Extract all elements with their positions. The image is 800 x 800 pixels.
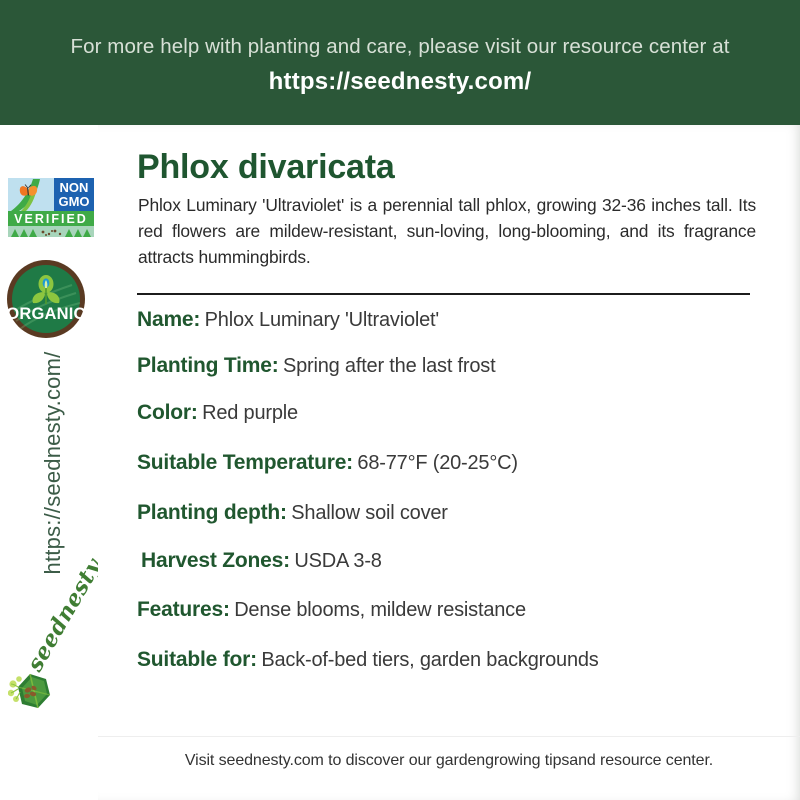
header-banner: For more help with planting and care, pl… bbox=[0, 0, 800, 125]
brand-wordmark: seednesty bbox=[22, 576, 98, 678]
svg-text:ORGANIC: ORGANIC bbox=[6, 305, 85, 323]
product-info-card: Phlox divaricata Phlox Luminary 'Ultravi… bbox=[98, 125, 800, 800]
detail-label: Harvest Zones: bbox=[141, 549, 290, 572]
detail-label: Features: bbox=[137, 598, 230, 621]
detail-value: Dense blooms, mildew resistance bbox=[234, 599, 526, 621]
detail-label: Suitable Temperature: bbox=[137, 451, 353, 474]
detail-value: 68-77°F (20-25°C) bbox=[357, 452, 517, 474]
detail-row-suitable-temperature: Suitable Temperature: 68-77°F (20-25°C) bbox=[137, 451, 518, 475]
detail-value: Shallow soil cover bbox=[291, 502, 447, 524]
detail-row-planting-time: Planting Time: Spring after the last fro… bbox=[137, 354, 495, 378]
detail-row-harvest-zones: Harvest Zones: USDA 3-8 bbox=[141, 549, 382, 573]
seed-pod-icon bbox=[8, 671, 56, 713]
detail-value: Spring after the last frost bbox=[283, 355, 495, 377]
section-divider bbox=[137, 293, 750, 295]
detail-value: Red purple bbox=[202, 402, 298, 424]
product-description: Phlox Luminary 'Ultraviolet' is a perenn… bbox=[138, 192, 756, 270]
detail-value: Back-of-bed tiers, garden backgrounds bbox=[261, 649, 598, 671]
detail-row-color: Color: Red purple bbox=[137, 401, 298, 425]
footer-divider bbox=[98, 736, 800, 737]
detail-row-features: Features: Dense blooms, mildew resistanc… bbox=[137, 598, 526, 622]
detail-label: Suitable for: bbox=[137, 648, 257, 671]
svg-text:VERIFIED: VERIFIED bbox=[14, 212, 88, 226]
detail-row-planting-depth: Planting depth: Shallow soil cover bbox=[137, 501, 448, 525]
organic-seal-icon: ORGANIC bbox=[6, 259, 86, 339]
detail-label: Planting Time: bbox=[137, 354, 279, 377]
svg-text:GMO: GMO bbox=[58, 194, 89, 209]
card-content: Phlox divaricata Phlox Luminary 'Ultravi… bbox=[137, 125, 800, 800]
detail-value: USDA 3-8 bbox=[294, 550, 381, 572]
sidebar-vertical-url[interactable]: https://seednesty.com/ bbox=[31, 343, 75, 583]
non-gmo-verified-icon: NON GMO VERIFIED bbox=[7, 176, 95, 239]
footer-note: Visit seednesty.com to discover our gard… bbox=[98, 752, 800, 770]
detail-row-suitable-for: Suitable for: Back-of-bed tiers, garden … bbox=[137, 648, 599, 672]
svg-text:NON: NON bbox=[60, 180, 89, 195]
brand-logo: seednesty bbox=[4, 645, 96, 755]
header-website-url[interactable]: https://seednesty.com/ bbox=[269, 64, 532, 100]
detail-label: Planting depth: bbox=[137, 501, 287, 524]
left-sidebar: NON GMO VERIFIED bbox=[0, 125, 98, 800]
page-title: Phlox divaricata bbox=[137, 147, 395, 187]
detail-value: Phlox Luminary 'Ultraviolet' bbox=[205, 309, 439, 331]
detail-row-name: Name: Phlox Luminary 'Ultraviolet' bbox=[137, 308, 439, 332]
detail-label: Color: bbox=[137, 401, 198, 424]
detail-label: Name: bbox=[137, 308, 200, 331]
header-help-text: For more help with planting and care, pl… bbox=[70, 32, 729, 62]
